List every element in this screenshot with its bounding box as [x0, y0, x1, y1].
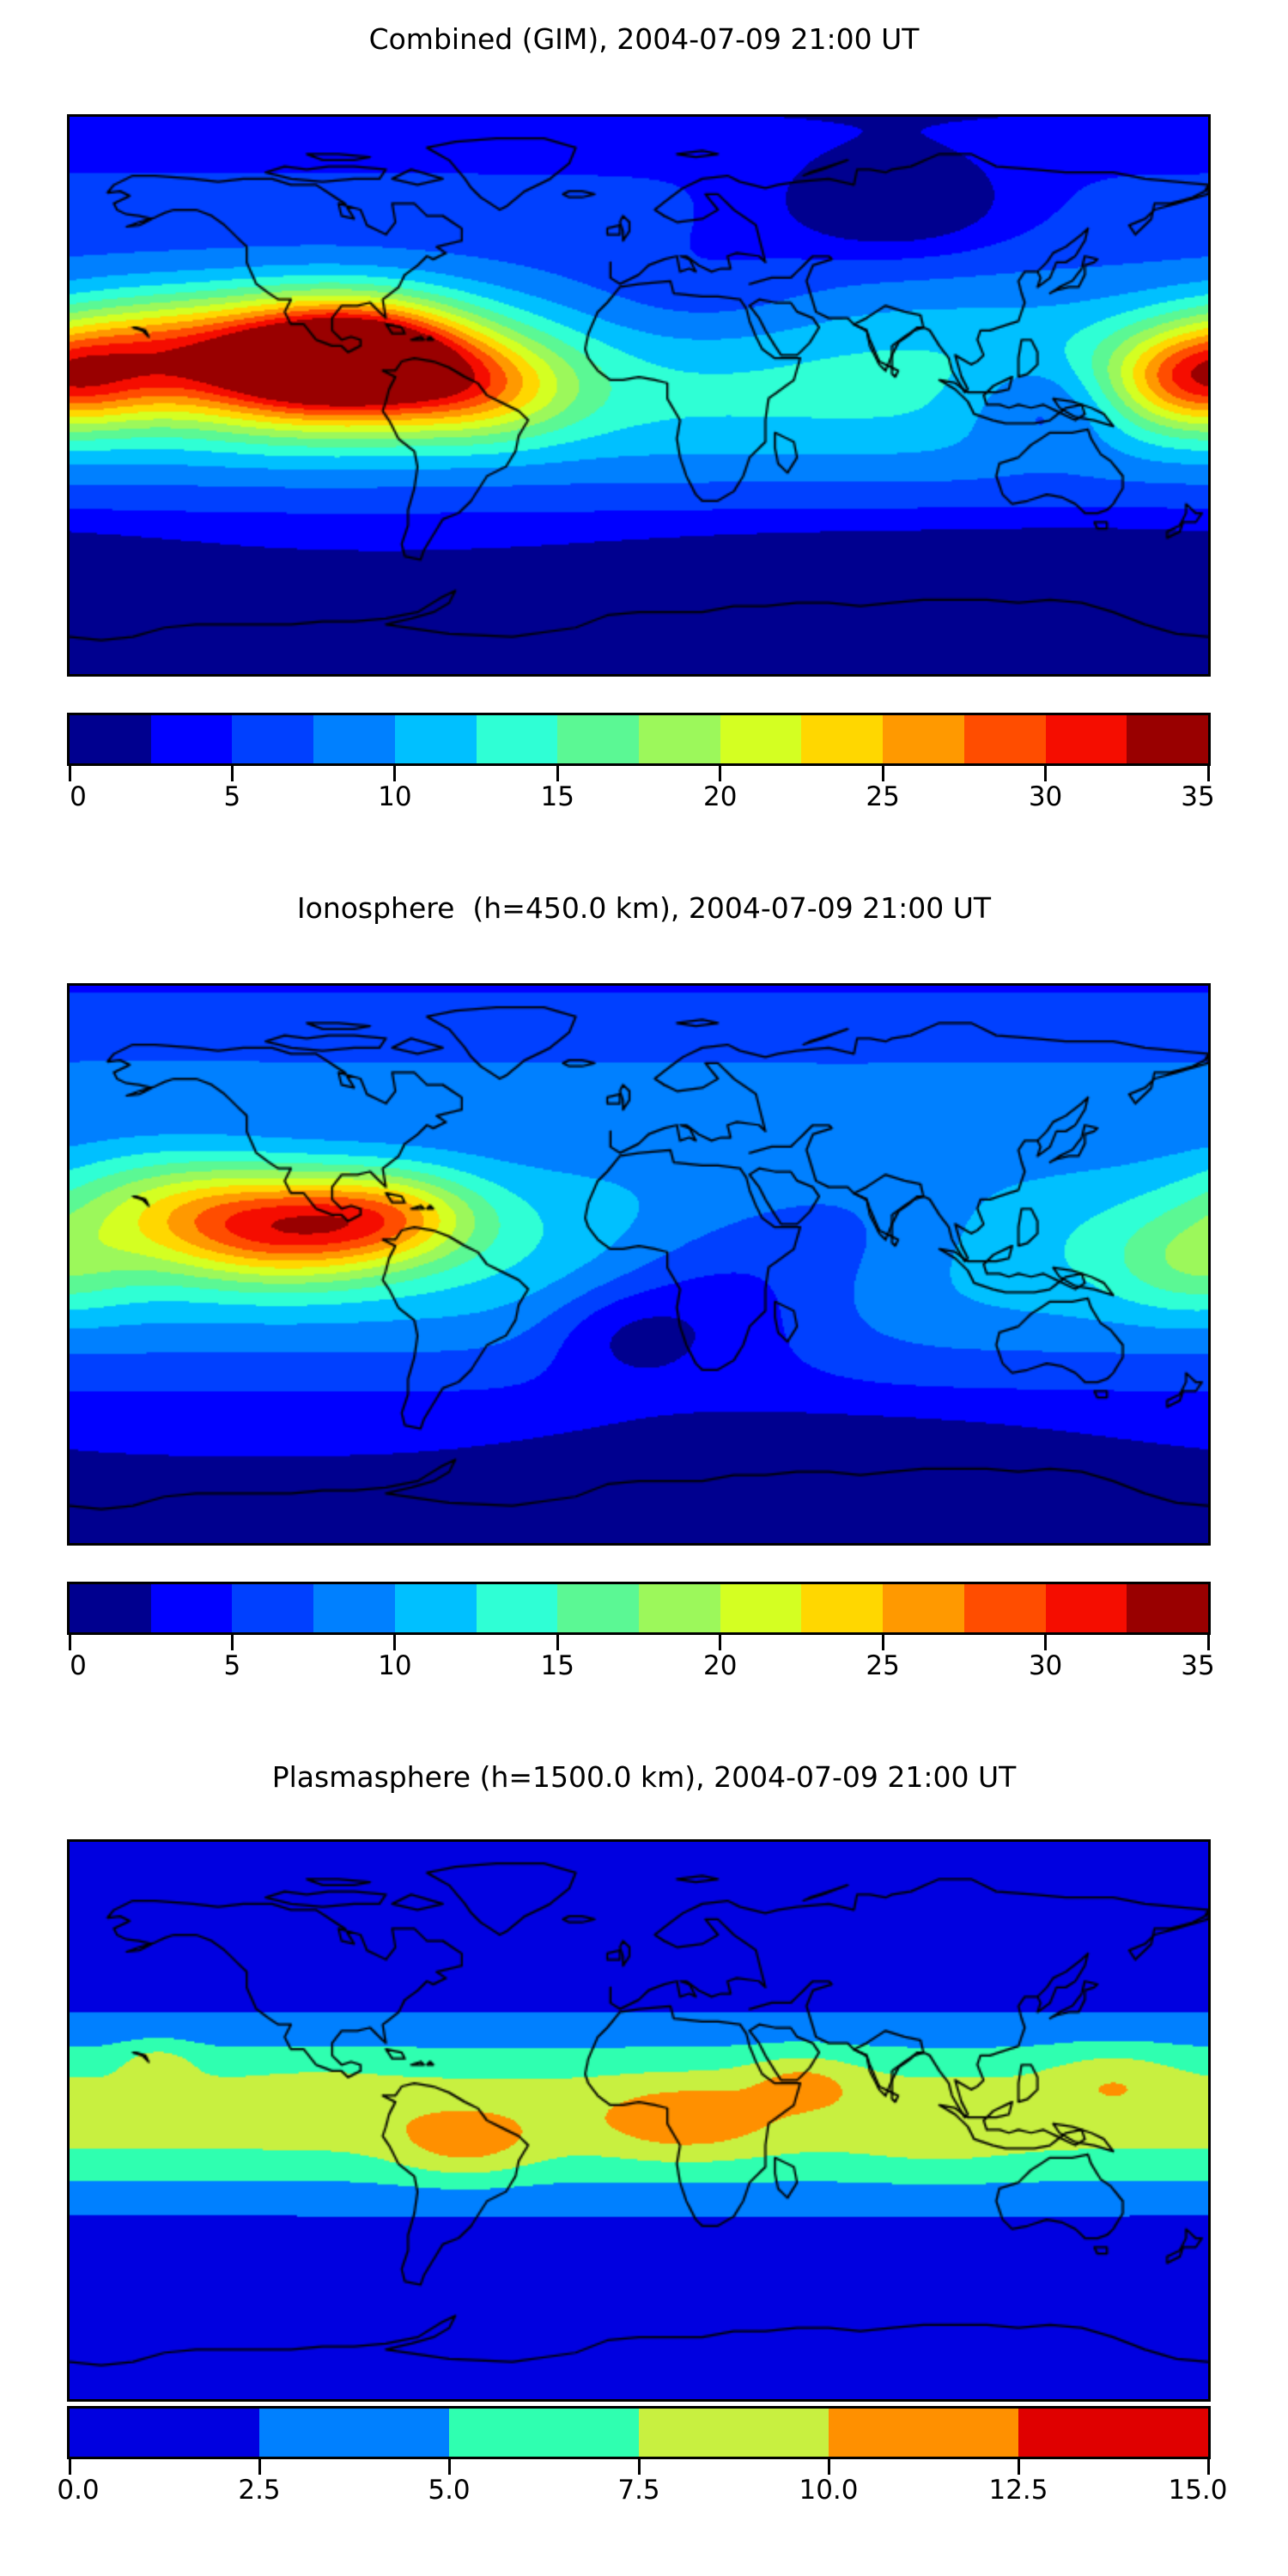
colorbar-tickmark	[719, 766, 721, 781]
colorbar-segment	[151, 715, 233, 763]
colorbar-tickmark	[1207, 2459, 1210, 2475]
colorbar-segment	[259, 2409, 449, 2457]
panel-ionosphere: Ionosphere (h=450.0 km), 2004-07-09 21:0…	[0, 869, 1288, 1728]
map-canvas-plasmasphere	[70, 1842, 1208, 2399]
panel-plasmasphere: Plasmasphere (h=1500.0 km), 2004-07-09 2…	[0, 1738, 1288, 2576]
colorbar-segment	[1127, 715, 1208, 763]
map-plasmasphere	[67, 1839, 1211, 2402]
map-canvas-combined-gim	[70, 117, 1208, 674]
colorbar-segment	[1046, 1584, 1127, 1632]
colorbar-ticklabel: 10	[378, 781, 411, 812]
colorbar-segment	[964, 715, 1046, 763]
colorbar-tickmark	[828, 2459, 830, 2475]
colorbar-segment	[801, 715, 883, 763]
colorbar-segment	[477, 1584, 558, 1632]
colorbar-ticklabel: 0.0	[57, 2475, 99, 2506]
colorbar-tickmark	[448, 2459, 451, 2475]
colorbar-segment	[313, 1584, 395, 1632]
map-combined-gim	[67, 114, 1211, 677]
colorbar-labels-ionosphere: 05101520253035	[67, 1650, 1211, 1690]
colorbar-segment	[1018, 2409, 1208, 2457]
colorbar-ticklabel: 10	[378, 1650, 411, 1681]
colorbar-segment	[829, 2409, 1018, 2457]
colorbar-ticklabel: 5	[224, 1650, 241, 1681]
colorbar-ticklabel: 30	[1029, 781, 1062, 812]
colorbar-segment	[801, 1584, 883, 1632]
colorbar-tickmark	[393, 766, 396, 781]
panel-title-ionosphere: Ionosphere (h=450.0 km), 2004-07-09 21:0…	[0, 891, 1288, 925]
colorbar-tickmark	[1044, 1635, 1047, 1650]
colorbar-segment	[70, 2409, 259, 2457]
colorbar-tickmark	[1207, 1635, 1210, 1650]
colorbar-segment	[557, 715, 639, 763]
colorbar-segment	[883, 1584, 964, 1632]
colorbar-tickmark	[258, 2459, 261, 2475]
colorbar-tickmark	[1018, 2459, 1020, 2475]
colorbar-segment	[477, 715, 558, 763]
colorbar-plasmasphere: 0.02.55.07.510.012.515.0	[67, 2406, 1211, 2514]
colorbar-ticklabel: 15.0	[1168, 2475, 1227, 2506]
colorbar-segment	[883, 715, 964, 763]
colorbar-ticklabel: 35	[1181, 781, 1214, 812]
colorbar-ticklabel: 5.0	[428, 2475, 470, 2506]
colorbar-tickmark	[69, 2459, 71, 2475]
colorbar-ticklabel: 7.5	[617, 2475, 659, 2506]
colorbar-ticklabel: 25	[866, 781, 899, 812]
panel-title-plasmasphere: Plasmasphere (h=1500.0 km), 2004-07-09 2…	[0, 1760, 1288, 1794]
colorbar-tickmark	[882, 766, 884, 781]
colorbar-gradient-combined-gim	[67, 713, 1211, 766]
colorbar-tickmark	[231, 766, 234, 781]
colorbar-tickmark	[719, 1635, 721, 1650]
panel-combined-gim: Combined (GIM), 2004-07-09 21:00 UT 0510…	[0, 0, 1288, 859]
colorbar-tickmark	[69, 766, 71, 781]
colorbar-ticklabel: 0	[70, 781, 87, 812]
colorbar-ticklabel: 15	[541, 1650, 574, 1681]
colorbar-ticklabel: 0	[70, 1650, 87, 1681]
colorbar-tickmark	[69, 1635, 71, 1650]
colorbar-ticklabel: 10.0	[799, 2475, 858, 2506]
colorbar-segment	[1127, 1584, 1208, 1632]
colorbar-combined-gim: 05101520253035	[67, 713, 1211, 821]
colorbar-ionosphere: 05101520253035	[67, 1582, 1211, 1690]
colorbar-tickmark	[556, 1635, 559, 1650]
colorbar-tickmark	[638, 2459, 641, 2475]
colorbar-segment	[720, 715, 802, 763]
map-ionosphere	[67, 983, 1211, 1546]
colorbar-tickmark	[231, 1635, 234, 1650]
colorbar-ticklabel: 20	[703, 781, 737, 812]
colorbar-ticklabel: 20	[703, 1650, 737, 1681]
colorbar-segment	[395, 1584, 477, 1632]
colorbar-segment	[639, 715, 720, 763]
colorbar-labels-combined-gim: 05101520253035	[67, 781, 1211, 821]
colorbar-tickmark	[1207, 766, 1210, 781]
colorbar-ticks-ionosphere	[67, 1635, 1211, 1650]
colorbar-ticklabel: 30	[1029, 1650, 1062, 1681]
colorbar-ticklabel: 25	[866, 1650, 899, 1681]
colorbar-segment	[449, 2409, 639, 2457]
colorbar-ticks-combined-gim	[67, 766, 1211, 781]
colorbar-segment	[313, 715, 395, 763]
colorbar-tickmark	[882, 1635, 884, 1650]
colorbar-segment	[639, 1584, 720, 1632]
colorbar-ticklabel: 5	[224, 781, 241, 812]
colorbar-ticklabel: 35	[1181, 1650, 1214, 1681]
colorbar-tickmark	[556, 766, 559, 781]
colorbar-segment	[557, 1584, 639, 1632]
colorbar-tickmark	[1044, 766, 1047, 781]
colorbar-tickmark	[393, 1635, 396, 1650]
colorbar-gradient-ionosphere	[67, 1582, 1211, 1635]
colorbar-gradient-plasmasphere	[67, 2406, 1211, 2459]
colorbar-segment	[70, 1584, 151, 1632]
colorbar-segment	[639, 2409, 829, 2457]
colorbar-ticklabel: 2.5	[238, 2475, 280, 2506]
colorbar-ticklabel: 12.5	[988, 2475, 1048, 2506]
colorbar-ticks-plasmasphere	[67, 2459, 1211, 2475]
panel-title-combined-gim: Combined (GIM), 2004-07-09 21:00 UT	[0, 22, 1288, 56]
colorbar-labels-plasmasphere: 0.02.55.07.510.012.515.0	[67, 2475, 1211, 2514]
colorbar-segment	[395, 715, 477, 763]
colorbar-segment	[232, 1584, 313, 1632]
colorbar-segment	[232, 715, 313, 763]
colorbar-ticklabel: 15	[541, 781, 574, 812]
figure-root: Combined (GIM), 2004-07-09 21:00 UT 0510…	[0, 0, 1288, 2576]
colorbar-segment	[151, 1584, 233, 1632]
map-canvas-ionosphere	[70, 986, 1208, 1543]
colorbar-segment	[1046, 715, 1127, 763]
colorbar-segment	[70, 715, 151, 763]
colorbar-segment	[964, 1584, 1046, 1632]
colorbar-segment	[720, 1584, 802, 1632]
